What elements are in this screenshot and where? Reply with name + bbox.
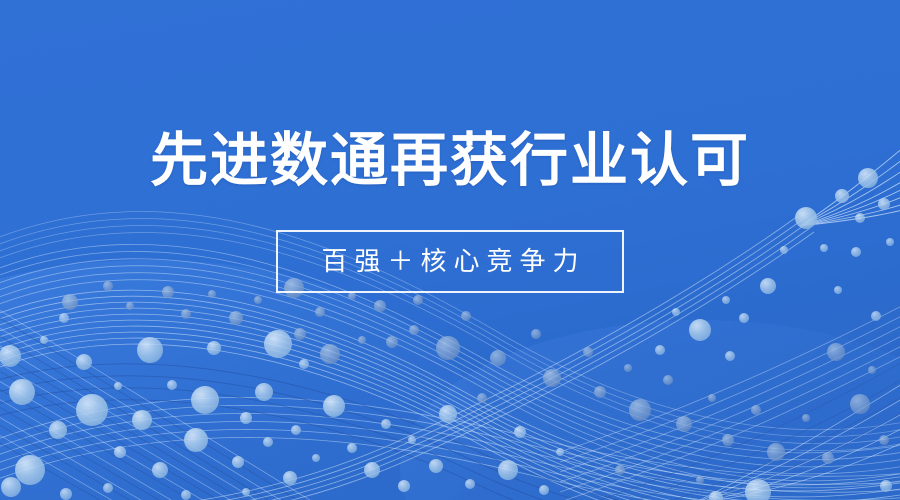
subtitle-text: 百强＋核心竞争力 (314, 249, 585, 275)
subtitle-frame: 百强＋核心竞争力 (276, 230, 624, 293)
promo-banner: 先进数通再获行业认可 百强＋核心竞争力 (0, 0, 900, 500)
banner-content: 先进数通再获行业认可 百强＋核心竞争力 (0, 0, 900, 500)
page-title: 先进数通再获行业认可 (150, 131, 750, 189)
